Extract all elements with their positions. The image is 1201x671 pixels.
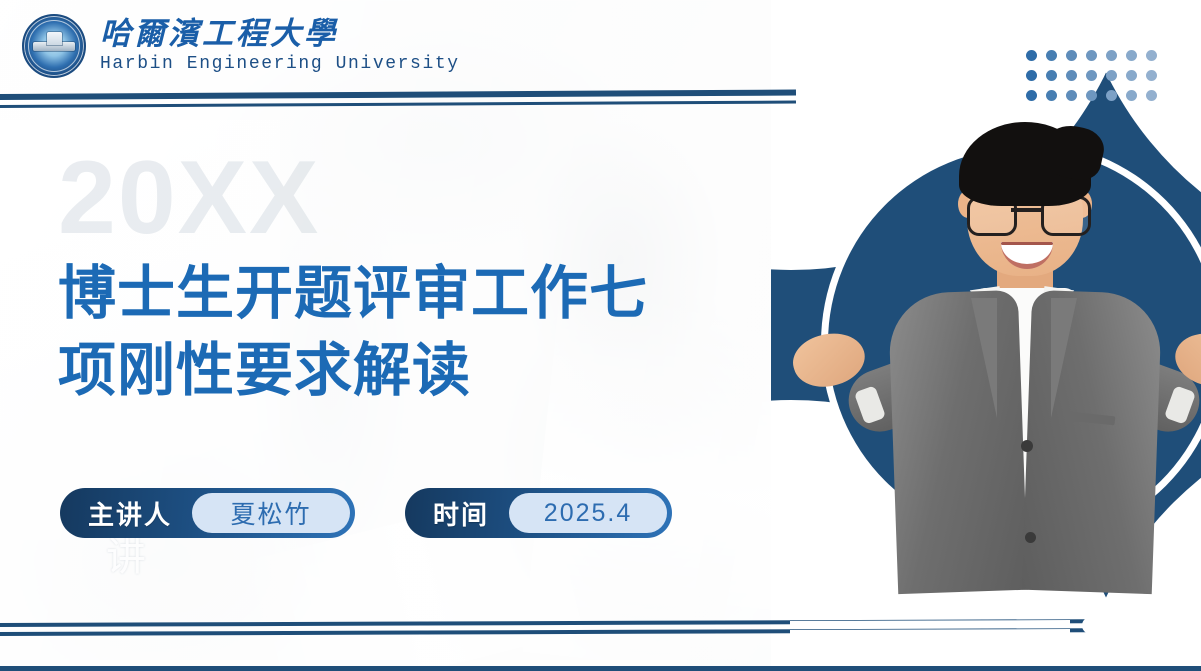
university-logo: 哈爾濱工程大學 Harbin Engineering University: [22, 14, 460, 78]
grid-dot: [1086, 50, 1097, 61]
grid-dot: [1126, 70, 1137, 81]
time-pill: 时间 2025.4: [405, 488, 672, 538]
grid-dot: [1126, 90, 1137, 101]
university-name-en: Harbin Engineering University: [100, 54, 460, 74]
jacket-button: [1025, 532, 1036, 543]
university-emblem-icon: [22, 14, 86, 78]
glasses-bridge: [1011, 208, 1041, 212]
jacket-right: [1022, 290, 1162, 594]
pagination-dot-1[interactable]: [1082, 617, 1099, 634]
grid-dot: [1066, 70, 1077, 81]
mouth-line: [1001, 242, 1053, 245]
lapel-right: [1051, 298, 1077, 418]
grid-dot: [1106, 90, 1117, 101]
grid-dot: [1126, 50, 1137, 61]
grid-dot: [1046, 70, 1057, 81]
page-title: 博士生开题评审工作七 项刚性要求解读: [58, 256, 698, 409]
grid-dot: [1146, 90, 1157, 101]
header-logo-bar: 哈爾濱工程大學 Harbin Engineering University: [0, 0, 782, 92]
speaker-label: 主讲人: [60, 495, 192, 532]
speaker-value: 夏松竹: [192, 493, 350, 533]
presentation-slide: 20XX: [0, 0, 1201, 671]
grid-dot: [1046, 50, 1057, 61]
time-value: 2025.4: [509, 493, 667, 533]
pagination-dot-2[interactable]: [1109, 615, 1130, 636]
jacket-left: [888, 290, 1028, 594]
grid-dot: [1026, 70, 1037, 81]
time-label: 时间: [405, 495, 509, 532]
jacket-button: [1021, 440, 1033, 452]
lapel-left: [971, 298, 997, 418]
grid-dot: [1146, 70, 1157, 81]
grid-dot: [1026, 90, 1037, 101]
meta-pill-row: 主讲人 夏松竹 时间 2025.4: [60, 488, 672, 538]
emblem-ring: [28, 20, 80, 72]
page-title-line-2: 项刚性要求解读: [58, 333, 698, 410]
grid-dot: [1046, 90, 1057, 101]
decorative-dot-grid: [1026, 50, 1166, 110]
university-name-block: 哈爾濱工程大學 Harbin Engineering University: [100, 18, 460, 75]
grid-dot: [1026, 50, 1037, 61]
page-title-line-1: 博士生开题评审工作七: [58, 256, 698, 333]
university-name-cn: 哈爾濱工程大學: [100, 18, 460, 51]
speaker-pill: 主讲人 夏松竹: [60, 488, 355, 538]
grid-dot: [1106, 70, 1117, 81]
slide-pagination[interactable]: [1082, 615, 1157, 636]
grid-dot: [1146, 50, 1157, 61]
bottom-edge-bar: [0, 666, 1201, 671]
pagination-dot-3[interactable]: [1140, 617, 1157, 634]
speaker-illustration: [855, 92, 1195, 592]
grid-dot: [1106, 50, 1117, 61]
year-watermark: 20XX: [58, 146, 320, 250]
grid-dot: [1086, 70, 1097, 81]
grid-dot: [1086, 90, 1097, 101]
grid-dot: [1066, 50, 1077, 61]
grid-dot: [1066, 90, 1077, 101]
